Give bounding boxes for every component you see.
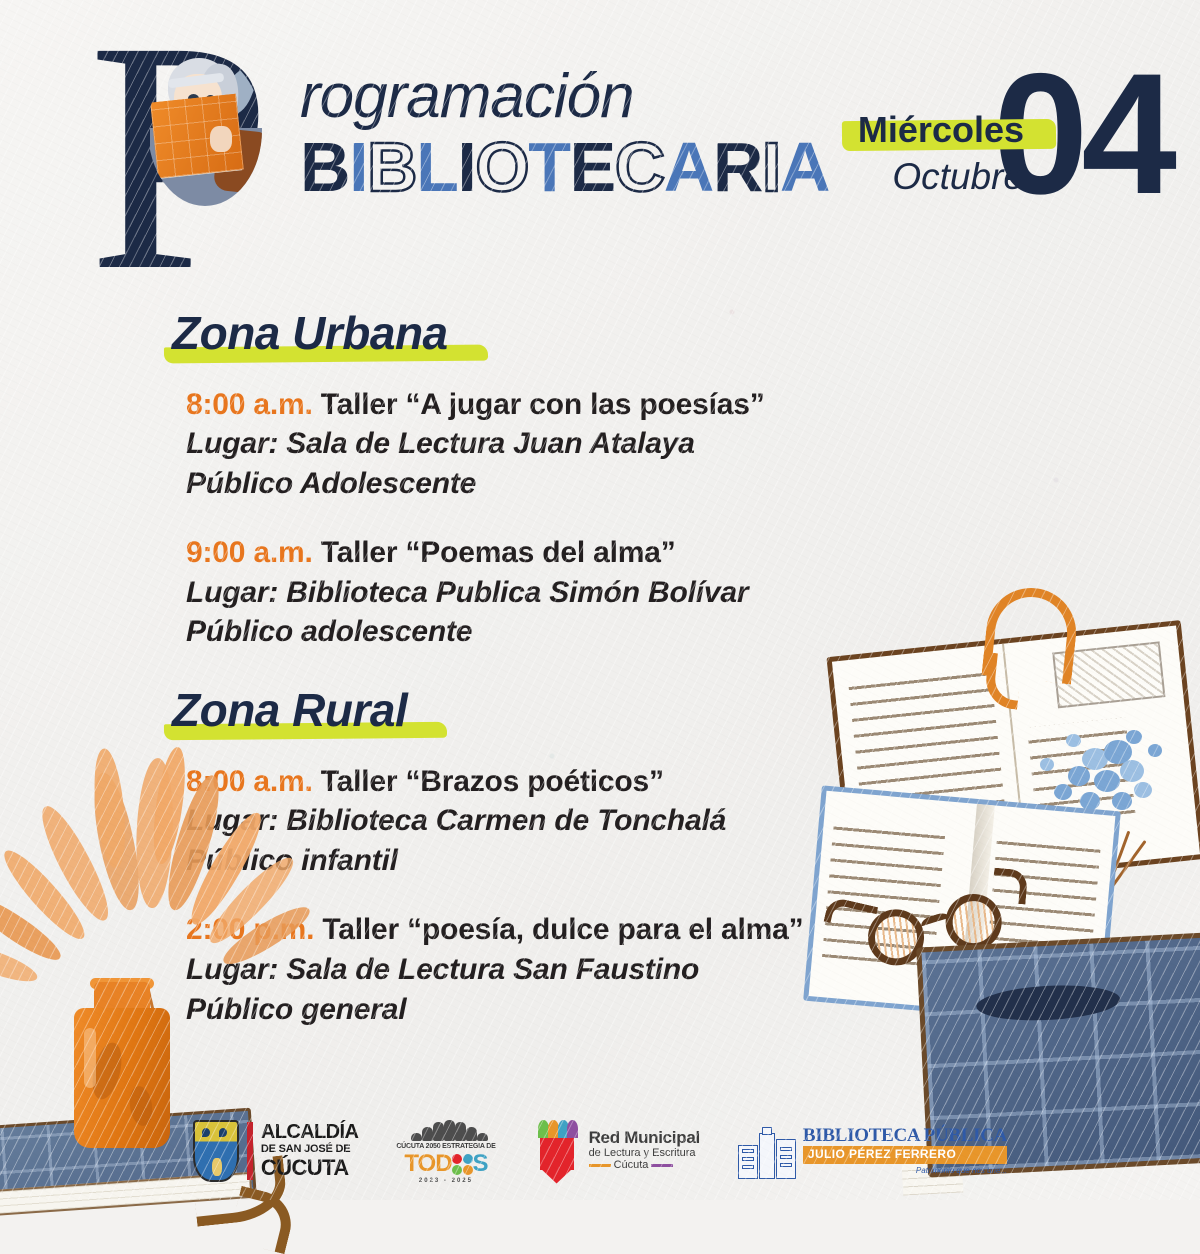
todos-figure: [433, 1122, 444, 1141]
todos-dot: [463, 1154, 473, 1164]
logo-red-municipal: Red Municipal de Lectura y Escritura Cúc…: [534, 1120, 700, 1182]
red-municipal-text: Red Municipal de Lectura y Escritura Cúc…: [589, 1129, 700, 1171]
zone-heading: Zona Urbana: [172, 305, 448, 363]
alcaldia-red-bar: [247, 1122, 253, 1180]
event-title-line: 8:00 a.m. Taller “Brazos poéticos”: [186, 762, 900, 802]
todos-figure: [455, 1122, 466, 1141]
flower-bloom: [1066, 734, 1081, 747]
red-line1: Red Municipal: [589, 1129, 700, 1147]
red-line3-row: Cúcuta: [589, 1160, 700, 1172]
flower-bloom: [1094, 770, 1120, 792]
todos-caption: CÚCUTA 2050 ESTRATEGIA DE: [396, 1143, 495, 1150]
event-title-line: 8:00 a.m. Taller “A jugar con las poesía…: [186, 385, 900, 425]
cucuta-coat-of-arms: [193, 1120, 239, 1182]
event-item: 9:00 a.m. Taller “Poemas del alma”Lugar:…: [186, 533, 900, 652]
todos-word-start: TOD: [404, 1152, 451, 1176]
todos-figure: [477, 1133, 488, 1141]
biblioteca-text: BIBLIOTECA PÚBLICA JULIO PÉREZ FERRERO P…: [803, 1126, 1007, 1175]
footer-logos: ALCALDÍA DE SAN JOSÉ DE CÚCUTA CÚCUTA 20…: [0, 1117, 1200, 1184]
alcaldia-line3: CÚCUTA: [261, 1157, 358, 1179]
coat-of-arms-figure: [212, 1158, 222, 1176]
title-programacion: rogramación: [300, 66, 829, 128]
event-audience: Público adolescente: [186, 612, 900, 652]
building-part: [759, 1133, 775, 1179]
date-block: 04 Miércoles Octubre: [826, 30, 1176, 210]
event-place: Lugar: Sala de Lectura Juan Atalaya: [186, 424, 900, 464]
todos-figure: [422, 1127, 433, 1141]
tulip-petal: [567, 1120, 578, 1138]
flower-bloom: [1126, 730, 1142, 744]
todos-figure: [411, 1133, 422, 1141]
title-letter-8: C: [615, 132, 664, 202]
title-letter-0: B: [300, 132, 349, 202]
logo-alcaldia-cucuta: ALCALDÍA DE SAN JOSÉ DE CÚCUTA: [193, 1120, 358, 1182]
title-letter-5: O: [475, 132, 528, 202]
event-place: Lugar: Biblioteca Publica Simón Bolívar: [186, 573, 900, 613]
book-cover-label: [975, 982, 1121, 1023]
todos-dot: [463, 1165, 473, 1175]
event-audience: Público Adolescente: [186, 464, 900, 504]
tulip-book-icon: [534, 1120, 580, 1182]
flower-bloom: [1040, 758, 1054, 771]
title-letter-9: A: [664, 132, 713, 202]
event-audience: Público general: [186, 990, 900, 1030]
child-hand-shape: [210, 126, 232, 152]
title-letter-12: A: [780, 132, 829, 202]
title-letter-7: E: [570, 132, 615, 202]
flower-bloom: [1054, 784, 1072, 800]
poster-title: rogramación BIBLIOTECARIA: [300, 66, 829, 202]
biblioteca-line2: JULIO PÉREZ FERRERO: [803, 1146, 1007, 1164]
title-letter-4: I: [457, 132, 475, 202]
logo-cucuta-todos: CÚCUTA 2050 ESTRATEGIA DE TOD S 2023 - 2…: [396, 1117, 495, 1184]
event-title-line: 9:00 a.m. Taller “Poemas del alma”: [186, 533, 900, 573]
tulip-petal: [548, 1120, 559, 1138]
event-place: Lugar: Sala de Lectura San Faustino: [186, 950, 900, 990]
event-place: Lugar: Biblioteca Carmen de Tonchalá: [186, 801, 900, 841]
building-part: [780, 1147, 792, 1151]
event-activity: Taller “A jugar con las poesías”: [321, 388, 765, 421]
alcaldia-line1: ALCALDÍA: [261, 1122, 358, 1142]
title-letter-1: I: [349, 132, 367, 202]
flower-bloom: [1120, 760, 1144, 782]
building-part: [742, 1149, 754, 1153]
building-part: [742, 1165, 754, 1169]
event-activity: Taller “poesía, dulce para el alma”: [322, 913, 803, 946]
tulip-tip: [540, 1168, 574, 1184]
poster-canvas: P rogramación BIBLIOTECARIA 04: [0, 0, 1200, 1200]
date-weekday: Miércoles: [858, 112, 1024, 148]
red-line3: Cúcuta: [614, 1160, 649, 1172]
zone-events-0: 8:00 a.m. Taller “A jugar con las poesía…: [0, 371, 900, 653]
flower-bloom: [1148, 744, 1162, 757]
tulip-petal: [538, 1120, 549, 1138]
red-rule-left: [589, 1164, 611, 1167]
title-letter-11: I: [762, 132, 780, 202]
building-part: [780, 1155, 792, 1159]
todos-figure: [466, 1127, 477, 1141]
title-letter-3: L: [416, 132, 457, 202]
biblioteca-tagline: Patrimonio que nos une...: [803, 1166, 1007, 1175]
todos-people-icon: [409, 1117, 483, 1141]
todos-dot-wheel-icon: [452, 1154, 473, 1175]
date-weekday-wrap: Miércoles: [858, 112, 1024, 148]
red-rule-right: [651, 1164, 673, 1167]
logo-biblioteca-publica: BIBLIOTECA PÚBLICA JULIO PÉREZ FERRERO P…: [738, 1123, 1007, 1179]
books-and-glasses-illustration: [810, 610, 1200, 1200]
biblioteca-line1: BIBLIOTECA PÚBLICA: [803, 1126, 1007, 1146]
zone-0: Zona Urbana: [0, 305, 900, 363]
flower-bloom: [1068, 766, 1090, 786]
todos-figure: [444, 1120, 455, 1141]
pampas-plume: [90, 747, 130, 869]
event-time: 9:00 a.m.: [186, 536, 313, 569]
alcaldia-text: ALCALDÍA DE SAN JOSÉ DE CÚCUTA: [261, 1122, 358, 1179]
vase-highlight: [84, 1028, 96, 1088]
building-part: [776, 1139, 796, 1179]
title-bibliotecaria: BIBLIOTECARIA: [300, 132, 829, 202]
todos-word-end: S: [473, 1152, 488, 1176]
drop-cap-block: P: [88, 18, 318, 303]
event-activity: Taller “Poemas del alma”: [321, 536, 676, 569]
event-activity: Taller “Brazos poéticos”: [321, 765, 664, 798]
poster-header: P rogramación BIBLIOTECARIA 04: [0, 0, 1200, 310]
event-time: 8:00 a.m.: [186, 388, 313, 421]
event-item: 8:00 a.m. Taller “A jugar con las poesía…: [186, 385, 900, 504]
zone-heading: Zona Rural: [172, 682, 407, 740]
todos-dot: [452, 1165, 462, 1175]
todos-dot: [452, 1154, 462, 1164]
title-letter-2: B: [367, 132, 416, 202]
todos-subtext: 2023 - 2025: [419, 1178, 473, 1184]
todos-wordmark: TOD S: [404, 1152, 487, 1176]
library-building-icon: [738, 1123, 796, 1179]
child-reading-illustration: [148, 54, 262, 206]
flower-bloom: [1112, 792, 1132, 810]
book-ribbon-lower: [228, 1186, 298, 1254]
building-part: [780, 1163, 792, 1167]
alcaldia-line2: DE SAN JOSÉ DE: [261, 1144, 358, 1155]
building-part: [762, 1127, 772, 1135]
flower-bloom: [1134, 782, 1152, 798]
red-line2: de Lectura y Escritura: [589, 1148, 700, 1160]
title-letter-10: R: [713, 132, 762, 202]
building-part: [742, 1157, 754, 1161]
date-month: Octubre: [892, 158, 1024, 195]
title-letter-6: T: [528, 132, 569, 202]
